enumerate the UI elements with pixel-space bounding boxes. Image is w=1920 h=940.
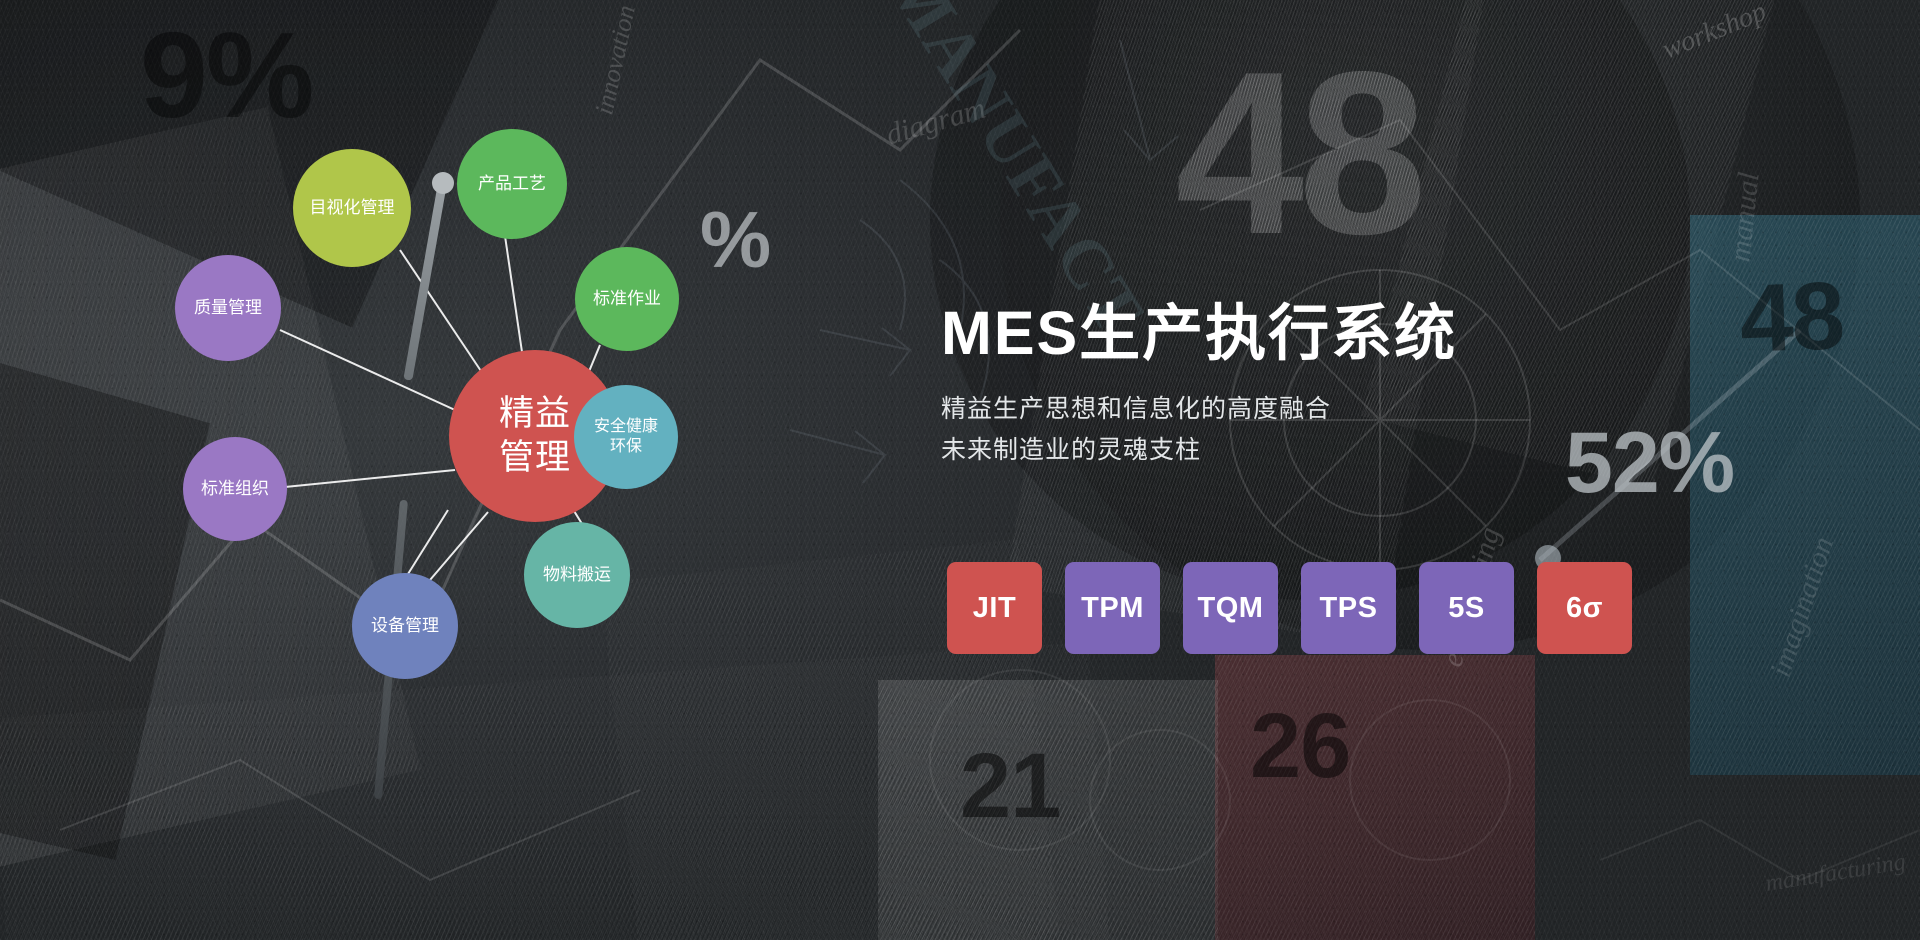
bubble-label: 设备管理 [371, 615, 439, 636]
mes-hero-banner: 9% 48 52% 48 21 26 % diagram workshop in… [0, 0, 1920, 940]
bubble-label: 质量管理 [194, 297, 262, 318]
bubble-label: 物料搬运 [543, 564, 611, 585]
badge-label: TPM [1081, 592, 1144, 625]
lean-management-bubble-diagram: 精益 管理 目视化管理 产品工艺 标准作业 安全健康 环保 物料搬运 设备管理 … [0, 0, 920, 940]
hero-text-block: MES生产执行系统 精益生产思想和信息化的高度融合 未来制造业的灵魂支柱 [941, 300, 1841, 470]
bubble-material-handling[interactable]: 物料搬运 [524, 522, 630, 628]
bubble-label-line2: 环保 [594, 437, 658, 457]
bg-number-48: 48 [1175, 38, 1421, 270]
badge-5s[interactable]: 5S [1419, 562, 1514, 654]
badge-label: TPS [1320, 592, 1378, 625]
badge-tpm[interactable]: TPM [1065, 562, 1160, 654]
subtitle-line-1: 精益生产思想和信息化的高度融合 [941, 389, 1841, 430]
bubble-label: 标准作业 [593, 288, 661, 309]
bubble-standard-work[interactable]: 标准作业 [575, 247, 679, 351]
bubble-label: 标准组织 [201, 478, 269, 499]
bubble-visual-management[interactable]: 目视化管理 [293, 149, 411, 267]
badge-6sigma[interactable]: 6σ [1537, 562, 1632, 654]
bubble-label: 产品工艺 [478, 173, 546, 194]
badge-tps[interactable]: TPS [1301, 562, 1396, 654]
badge-label: 5S [1448, 592, 1484, 625]
hero-subtitle: 精益生产思想和信息化的高度融合 未来制造业的灵魂支柱 [941, 389, 1841, 470]
diagram-joint-dot [432, 172, 454, 194]
badge-label: JIT [973, 592, 1016, 625]
bubble-product-process[interactable]: 产品工艺 [457, 129, 567, 239]
subtitle-line-2: 未来制造业的灵魂支柱 [941, 430, 1841, 471]
page-title: MES生产执行系统 [941, 300, 1841, 367]
bubble-center-line2: 管理 [499, 436, 571, 480]
bubble-center-line1: 精益 [499, 392, 571, 436]
methodology-badge-row: JIT TPM TQM TPS 5S 6σ [947, 562, 1632, 654]
badge-jit[interactable]: JIT [947, 562, 1042, 654]
bubble-label-line1: 安全健康 [594, 417, 658, 437]
bg-number-21: 21 [960, 740, 1060, 832]
badge-tqm[interactable]: TQM [1183, 562, 1278, 654]
badge-label: TQM [1198, 592, 1264, 625]
bubble-standard-organization[interactable]: 标准组织 [183, 437, 287, 541]
bubble-label: 目视化管理 [310, 197, 395, 218]
bg-number-26: 26 [1250, 700, 1350, 792]
bubble-safety-health-environment[interactable]: 安全健康 环保 [574, 385, 678, 489]
bubble-quality-management[interactable]: 质量管理 [175, 255, 281, 361]
bubble-equipment-management[interactable]: 设备管理 [352, 573, 458, 679]
badge-label: 6σ [1566, 592, 1603, 625]
